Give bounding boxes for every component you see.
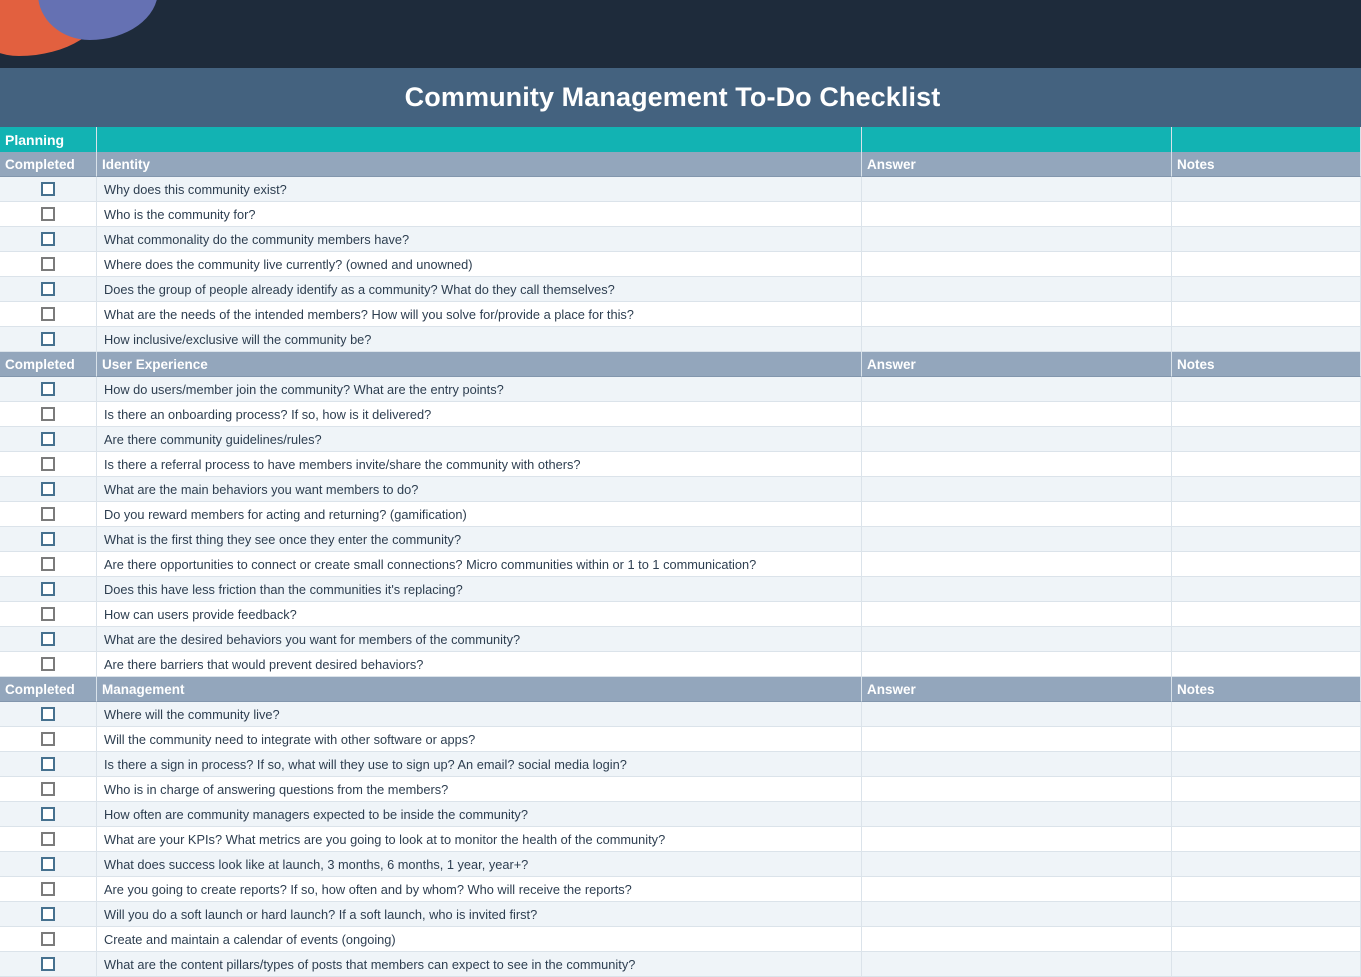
row-completed-cell[interactable]	[0, 827, 97, 852]
row-completed-cell[interactable]	[0, 477, 97, 502]
checkbox-icon[interactable]	[41, 907, 55, 921]
checklist-row: Does the group of people already identif…	[0, 277, 1361, 302]
checkbox-icon[interactable]	[41, 407, 55, 421]
checklist-row: Where will the community live?	[0, 702, 1361, 727]
row-notes-cell[interactable]	[1172, 577, 1361, 602]
row-answer-cell[interactable]	[862, 327, 1172, 352]
row-question-text: Is there an onboarding process? If so, h…	[97, 402, 862, 427]
checklist-row: Do you reward members for acting and ret…	[0, 502, 1361, 527]
row-notes-cell[interactable]	[1172, 802, 1361, 827]
row-answer-cell[interactable]	[862, 902, 1172, 927]
row-question-text: Are you going to create reports? If so, …	[97, 877, 862, 902]
checkbox-icon[interactable]	[41, 932, 55, 946]
row-notes-cell[interactable]	[1172, 427, 1361, 452]
checkbox-icon[interactable]	[41, 757, 55, 771]
checklist-row: Does this have less friction than the co…	[0, 577, 1361, 602]
row-answer-cell[interactable]	[862, 427, 1172, 452]
row-question-text: Does this have less friction than the co…	[97, 577, 862, 602]
checklist-row: Where does the community live currently?…	[0, 252, 1361, 277]
row-notes-cell[interactable]	[1172, 227, 1361, 252]
checkbox-icon[interactable]	[41, 257, 55, 271]
row-question-text: Create and maintain a calendar of events…	[97, 927, 862, 952]
row-answer-cell[interactable]	[862, 277, 1172, 302]
row-question-text: What are the main behaviors you want mem…	[97, 477, 862, 502]
row-answer-cell[interactable]	[862, 852, 1172, 877]
row-completed-cell[interactable]	[0, 177, 97, 202]
row-answer-cell[interactable]	[862, 302, 1172, 327]
checkbox-icon[interactable]	[41, 782, 55, 796]
planning-banner-label: Planning	[0, 127, 97, 152]
row-completed-cell[interactable]	[0, 852, 97, 877]
row-completed-cell[interactable]	[0, 452, 97, 477]
row-answer-cell[interactable]	[862, 927, 1172, 952]
planning-banner-row: Planning	[0, 127, 1361, 152]
section-header-completed: Completed	[0, 352, 97, 377]
checklist-row: What does success look like at launch, 3…	[0, 852, 1361, 877]
row-notes-cell[interactable]	[1172, 602, 1361, 627]
checklist-row: What commonality do the community member…	[0, 227, 1361, 252]
row-question-text: Why does this community exist?	[97, 177, 862, 202]
row-notes-cell[interactable]	[1172, 727, 1361, 752]
row-notes-cell[interactable]	[1172, 202, 1361, 227]
row-completed-cell[interactable]	[0, 627, 97, 652]
checklist-row: Is there an onboarding process? If so, h…	[0, 402, 1361, 427]
checklist-row: Create and maintain a calendar of events…	[0, 927, 1361, 952]
planning-banner-spacer-item	[97, 127, 862, 152]
checklist-row: Is there a sign in process? If so, what …	[0, 752, 1361, 777]
row-notes-cell[interactable]	[1172, 702, 1361, 727]
row-question-text: What are your KPIs? What metrics are you…	[97, 827, 862, 852]
section-header-notes: Notes	[1172, 677, 1361, 702]
checkbox-icon[interactable]	[41, 232, 55, 246]
row-notes-cell[interactable]	[1172, 502, 1361, 527]
checkbox-icon[interactable]	[41, 582, 55, 596]
row-completed-cell[interactable]	[0, 327, 97, 352]
row-notes-cell[interactable]	[1172, 877, 1361, 902]
row-question-text: Is there a referral process to have memb…	[97, 452, 862, 477]
checklist-row: How inclusive/exclusive will the communi…	[0, 327, 1361, 352]
checkbox-icon[interactable]	[41, 332, 55, 346]
row-question-text: Who is the community for?	[97, 202, 862, 227]
checkbox-icon[interactable]	[41, 207, 55, 221]
row-answer-cell[interactable]	[862, 827, 1172, 852]
section-header-row: CompletedUser ExperienceAnswerNotes	[0, 352, 1361, 377]
row-question-text: How often are community managers expecte…	[97, 802, 862, 827]
checklist-row: What are the main behaviors you want mem…	[0, 477, 1361, 502]
checkbox-icon[interactable]	[41, 657, 55, 671]
checklist-row: Will you do a soft launch or hard launch…	[0, 902, 1361, 927]
row-completed-cell[interactable]	[0, 527, 97, 552]
row-answer-cell[interactable]	[862, 477, 1172, 502]
row-answer-cell[interactable]	[862, 177, 1172, 202]
row-answer-cell[interactable]	[862, 502, 1172, 527]
row-question-text: What does success look like at launch, 3…	[97, 852, 862, 877]
row-completed-cell[interactable]	[0, 602, 97, 627]
row-question-text: Is there a sign in process? If so, what …	[97, 752, 862, 777]
row-completed-cell[interactable]	[0, 702, 97, 727]
row-notes-cell[interactable]	[1172, 552, 1361, 577]
checkbox-icon[interactable]	[41, 832, 55, 846]
row-notes-cell[interactable]	[1172, 177, 1361, 202]
row-notes-cell[interactable]	[1172, 627, 1361, 652]
row-notes-cell[interactable]	[1172, 277, 1361, 302]
row-question-text: What are the content pillars/types of po…	[97, 952, 862, 977]
row-answer-cell[interactable]	[862, 227, 1172, 252]
section-header-answer: Answer	[862, 677, 1172, 702]
row-question-text: Will you do a soft launch or hard launch…	[97, 902, 862, 927]
row-completed-cell[interactable]	[0, 502, 97, 527]
row-question-text: Where does the community live currently?…	[97, 252, 862, 277]
row-notes-cell[interactable]	[1172, 327, 1361, 352]
row-answer-cell[interactable]	[862, 802, 1172, 827]
checklist-row: Who is the community for?	[0, 202, 1361, 227]
title-bar-inner: Community Management To-Do Checklist	[0, 68, 1345, 127]
row-answer-cell[interactable]	[862, 702, 1172, 727]
checklist-row: Are there community guidelines/rules?	[0, 427, 1361, 452]
row-completed-cell[interactable]	[0, 652, 97, 677]
checklist-row: Why does this community exist?	[0, 177, 1361, 202]
checklist-row: Are there barriers that would prevent de…	[0, 652, 1361, 677]
row-answer-cell[interactable]	[862, 202, 1172, 227]
checkbox-icon[interactable]	[41, 732, 55, 746]
section-header-row: CompletedManagementAnswerNotes	[0, 677, 1361, 702]
row-question-text: Where will the community live?	[97, 702, 862, 727]
row-question-text: Will the community need to integrate wit…	[97, 727, 862, 752]
row-answer-cell[interactable]	[862, 877, 1172, 902]
checkbox-icon[interactable]	[41, 632, 55, 646]
row-notes-cell[interactable]	[1172, 827, 1361, 852]
row-answer-cell[interactable]	[862, 652, 1172, 677]
row-completed-cell[interactable]	[0, 377, 97, 402]
row-completed-cell[interactable]	[0, 877, 97, 902]
checklist-row: What are the needs of the intended membe…	[0, 302, 1361, 327]
row-answer-cell[interactable]	[862, 377, 1172, 402]
section-header-name: User Experience	[97, 352, 862, 377]
row-completed-cell[interactable]	[0, 752, 97, 777]
checkbox-icon[interactable]	[41, 882, 55, 896]
section-header-name: Management	[97, 677, 862, 702]
row-answer-cell[interactable]	[862, 602, 1172, 627]
checklist-row: Are you going to create reports? If so, …	[0, 877, 1361, 902]
row-question-text: What is the first thing they see once th…	[97, 527, 862, 552]
row-completed-cell[interactable]	[0, 252, 97, 277]
section-header-answer: Answer	[862, 352, 1172, 377]
checklist-row: What is the first thing they see once th…	[0, 527, 1361, 552]
row-answer-cell[interactable]	[862, 402, 1172, 427]
row-answer-cell[interactable]	[862, 527, 1172, 552]
row-completed-cell[interactable]	[0, 927, 97, 952]
checkbox-icon[interactable]	[41, 182, 55, 196]
row-answer-cell[interactable]	[862, 252, 1172, 277]
row-notes-cell[interactable]	[1172, 852, 1361, 877]
row-answer-cell[interactable]	[862, 727, 1172, 752]
title-bar: Community Management To-Do Checklist	[0, 68, 1361, 127]
checklist-row: Who is in charge of answering questions …	[0, 777, 1361, 802]
title-bar-right-rail	[1345, 68, 1361, 127]
checkbox-icon[interactable]	[41, 607, 55, 621]
row-completed-cell[interactable]	[0, 552, 97, 577]
checkbox-icon[interactable]	[41, 507, 55, 521]
checkbox-icon[interactable]	[41, 532, 55, 546]
checkbox-icon[interactable]	[41, 807, 55, 821]
checklist-row: How can users provide feedback?	[0, 602, 1361, 627]
row-question-text: How inclusive/exclusive will the communi…	[97, 327, 862, 352]
checkbox-icon[interactable]	[41, 382, 55, 396]
row-answer-cell[interactable]	[862, 952, 1172, 977]
planning-banner-spacer-answer	[862, 127, 1172, 152]
checkbox-icon[interactable]	[41, 432, 55, 446]
checklist-sheet: PlanningCompletedIdentityAnswerNotesWhy …	[0, 127, 1361, 977]
row-completed-cell[interactable]	[0, 577, 97, 602]
checklist-row: Will the community need to integrate wit…	[0, 727, 1361, 752]
section-header-answer: Answer	[862, 152, 1172, 177]
row-notes-cell[interactable]	[1172, 902, 1361, 927]
row-answer-cell[interactable]	[862, 577, 1172, 602]
row-notes-cell[interactable]	[1172, 952, 1361, 977]
checklist-row: Are there opportunities to connect or cr…	[0, 552, 1361, 577]
row-notes-cell[interactable]	[1172, 652, 1361, 677]
row-completed-cell[interactable]	[0, 427, 97, 452]
checkbox-icon[interactable]	[41, 707, 55, 721]
row-completed-cell[interactable]	[0, 227, 97, 252]
row-notes-cell[interactable]	[1172, 252, 1361, 277]
row-completed-cell[interactable]	[0, 277, 97, 302]
row-question-text: Does the group of people already identif…	[97, 277, 862, 302]
checklist-row: What are the desired behaviors you want …	[0, 627, 1361, 652]
checkbox-icon[interactable]	[41, 482, 55, 496]
row-completed-cell[interactable]	[0, 952, 97, 977]
row-question-text: Are there opportunities to connect or cr…	[97, 552, 862, 577]
checkbox-icon[interactable]	[41, 557, 55, 571]
section-header-completed: Completed	[0, 152, 97, 177]
row-question-text: How can users provide feedback?	[97, 602, 862, 627]
row-notes-cell[interactable]	[1172, 752, 1361, 777]
row-completed-cell[interactable]	[0, 902, 97, 927]
section-header-name: Identity	[97, 152, 862, 177]
checkbox-icon[interactable]	[41, 307, 55, 321]
checkbox-icon[interactable]	[41, 282, 55, 296]
row-notes-cell[interactable]	[1172, 452, 1361, 477]
checkbox-icon[interactable]	[41, 457, 55, 471]
checklist-row: What are the content pillars/types of po…	[0, 952, 1361, 977]
row-question-text: Who is in charge of answering questions …	[97, 777, 862, 802]
row-notes-cell[interactable]	[1172, 377, 1361, 402]
row-completed-cell[interactable]	[0, 777, 97, 802]
row-question-text: What are the desired behaviors you want …	[97, 627, 862, 652]
planning-banner-spacer-notes	[1172, 127, 1361, 152]
checklist-row: Is there a referral process to have memb…	[0, 452, 1361, 477]
row-answer-cell[interactable]	[862, 752, 1172, 777]
row-notes-cell[interactable]	[1172, 527, 1361, 552]
row-question-text: How do users/member join the community? …	[97, 377, 862, 402]
row-answer-cell[interactable]	[862, 552, 1172, 577]
row-question-text: Are there community guidelines/rules?	[97, 427, 862, 452]
row-answer-cell[interactable]	[862, 452, 1172, 477]
app-top-band	[0, 0, 1361, 68]
page-title: Community Management To-Do Checklist	[405, 82, 941, 113]
row-notes-cell[interactable]	[1172, 777, 1361, 802]
section-header-row: CompletedIdentityAnswerNotes	[0, 152, 1361, 177]
checklist-row: How often are community managers expecte…	[0, 802, 1361, 827]
row-notes-cell[interactable]	[1172, 477, 1361, 502]
row-completed-cell[interactable]	[0, 727, 97, 752]
row-question-text: Are there barriers that would prevent de…	[97, 652, 862, 677]
row-answer-cell[interactable]	[862, 627, 1172, 652]
row-completed-cell[interactable]	[0, 802, 97, 827]
row-completed-cell[interactable]	[0, 402, 97, 427]
row-question-text: What commonality do the community member…	[97, 227, 862, 252]
row-notes-cell[interactable]	[1172, 927, 1361, 952]
checklist-row: How do users/member join the community? …	[0, 377, 1361, 402]
row-question-text: Do you reward members for acting and ret…	[97, 502, 862, 527]
row-question-text: What are the needs of the intended membe…	[97, 302, 862, 327]
section-header-completed: Completed	[0, 677, 97, 702]
checkbox-icon[interactable]	[41, 857, 55, 871]
row-answer-cell[interactable]	[862, 777, 1172, 802]
row-notes-cell[interactable]	[1172, 302, 1361, 327]
row-notes-cell[interactable]	[1172, 402, 1361, 427]
row-completed-cell[interactable]	[0, 302, 97, 327]
section-header-notes: Notes	[1172, 352, 1361, 377]
section-header-notes: Notes	[1172, 152, 1361, 177]
row-completed-cell[interactable]	[0, 202, 97, 227]
checklist-row: What are your KPIs? What metrics are you…	[0, 827, 1361, 852]
checkbox-icon[interactable]	[41, 957, 55, 971]
